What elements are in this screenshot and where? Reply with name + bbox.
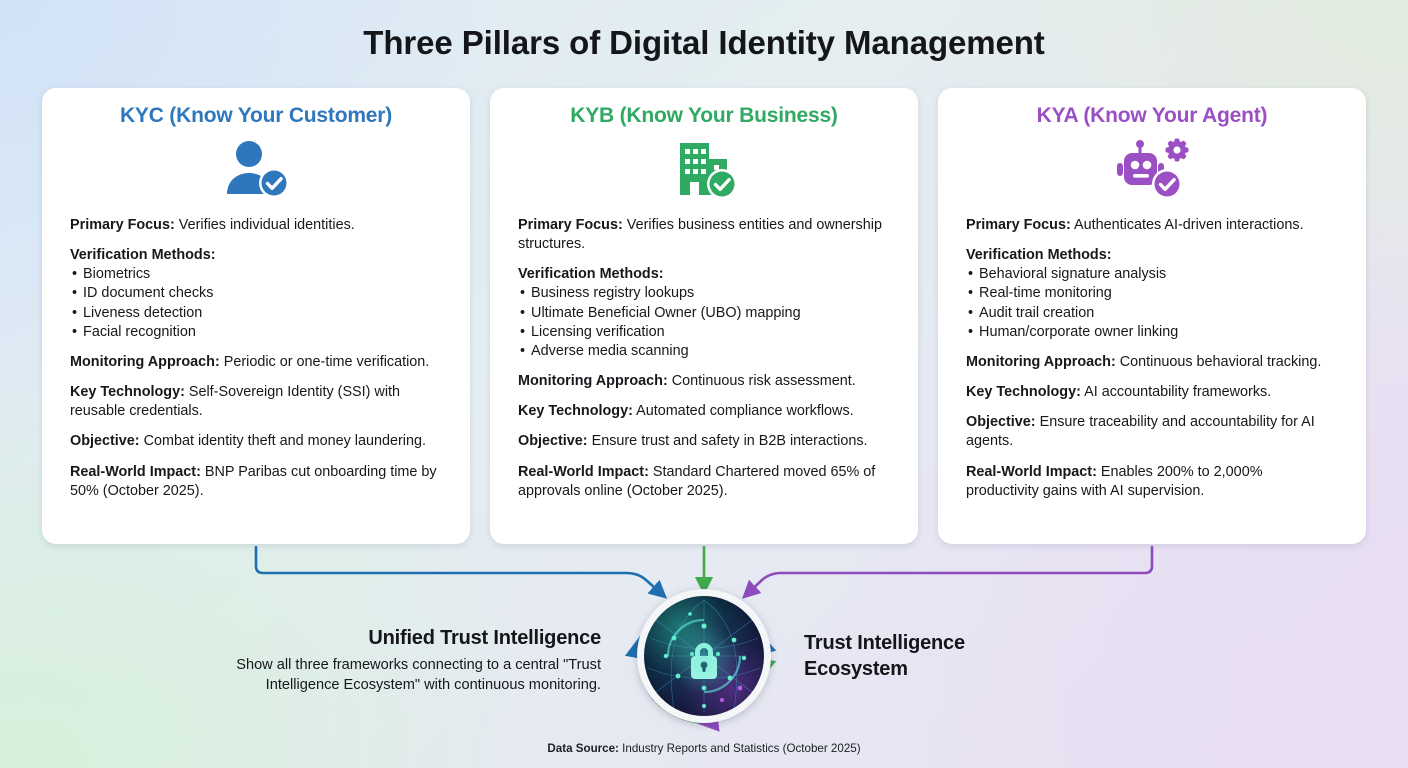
card-kya-title: KYA (Know Your Agent) [966, 104, 1338, 128]
card-kyc-impact: Real-World Impact: BNP Paribas cut onboa… [70, 463, 442, 501]
robot-gear-check-icon [966, 132, 1338, 206]
unified-trust-description: Show all three frameworks connecting to … [196, 655, 601, 695]
value-monitoring-approach: Continuous risk assessment. [672, 373, 856, 389]
value-monitoring-approach: Periodic or one-time verification. [224, 354, 430, 370]
card-kyc-objective: Objective: Combat identity theft and mon… [70, 432, 442, 451]
label-primary-focus: Primary Focus: [70, 217, 175, 233]
label-primary-focus: Primary Focus: [518, 217, 623, 233]
value-primary-focus: Verifies individual identities. [179, 217, 355, 233]
unified-trust-heading: Unified Trust Intelligence [196, 627, 601, 650]
label-real-world-impact: Real-World Impact: [966, 464, 1097, 480]
list-item: Biometrics [70, 265, 442, 284]
list-item: Adverse media scanning [518, 342, 890, 361]
card-kyc: KYC (Know Your Customer) Primary Focus: … [42, 88, 470, 544]
card-kya-technology: Key Technology: AI accountability framew… [966, 383, 1338, 402]
card-kya-impact: Real-World Impact: Enables 200% to 2,000… [966, 463, 1338, 501]
value-objective: Ensure trust and safety in B2B interacti… [592, 433, 868, 449]
data-source-footer: Data Source: Industry Reports and Statis… [0, 742, 1408, 755]
card-kyc-methods: Verification Methods: Biometrics ID docu… [70, 246, 442, 342]
card-kyc-title: KYC (Know Your Customer) [70, 104, 442, 128]
label-objective: Objective: [966, 414, 1036, 430]
label-monitoring-approach: Monitoring Approach: [518, 373, 668, 389]
label-verification-methods: Verification Methods: [518, 266, 664, 282]
label-verification-methods: Verification Methods: [70, 247, 216, 263]
data-source-text: Industry Reports and Statistics (October… [622, 742, 860, 755]
card-kyb-technology: Key Technology: Automated compliance wor… [518, 402, 890, 421]
list-item: Human/corporate owner linking [966, 323, 1338, 342]
person-check-icon [70, 132, 442, 206]
label-real-world-impact: Real-World Impact: [70, 464, 201, 480]
label-real-world-impact: Real-World Impact: [518, 464, 649, 480]
card-kya-primary-focus: Primary Focus: Authenticates AI-driven i… [966, 216, 1338, 235]
label-verification-methods: Verification Methods: [966, 247, 1112, 263]
unified-trust-intelligence-block: Unified Trust Intelligence Show all thre… [196, 627, 601, 695]
card-kyb-objective: Objective: Ensure trust and safety in B2… [518, 432, 890, 451]
value-primary-focus: Authenticates AI-driven interactions. [1074, 217, 1304, 233]
card-kyc-body: Primary Focus: Verifies individual ident… [70, 216, 442, 501]
value-objective: Combat identity theft and money launderi… [144, 433, 426, 449]
building-check-icon [518, 132, 890, 206]
label-monitoring-approach: Monitoring Approach: [70, 354, 220, 370]
card-kyb-title: KYB (Know Your Business) [518, 104, 890, 128]
list-item: Real-time monitoring [966, 284, 1338, 303]
card-kyb-monitoring: Monitoring Approach: Continuous risk ass… [518, 372, 890, 391]
list-item: Licensing verification [518, 323, 890, 342]
value-monitoring-approach: Continuous behavioral tracking. [1120, 354, 1322, 370]
verification-methods-list: Business registry lookups Ultimate Benef… [518, 284, 890, 361]
card-kyc-monitoring: Monitoring Approach: Periodic or one-tim… [70, 353, 442, 372]
label-key-technology: Key Technology: [966, 384, 1081, 400]
card-kyb: KYB (Know Your Business) Primary Focus [490, 88, 918, 544]
trust-intelligence-ecosystem-heading: Trust Intelligence Ecosystem [804, 630, 1064, 683]
list-item: ID document checks [70, 284, 442, 303]
card-kya-methods: Verification Methods: Behavioral signatu… [966, 246, 1338, 342]
verification-methods-list: Behavioral signature analysis Real-time … [966, 265, 1338, 342]
list-item: Ultimate Beneficial Owner (UBO) mapping [518, 304, 890, 323]
card-kya-body: Primary Focus: Authenticates AI-driven i… [966, 216, 1338, 501]
list-item: Behavioral signature analysis [966, 265, 1338, 284]
card-kya: KYA (Know Your Agent) [938, 88, 1366, 544]
value-key-technology: Automated compliance workflows. [636, 403, 854, 419]
label-key-technology: Key Technology: [518, 403, 633, 419]
label-monitoring-approach: Monitoring Approach: [966, 354, 1116, 370]
card-kyb-methods: Verification Methods: Business registry … [518, 265, 890, 361]
card-kya-monitoring: Monitoring Approach: Continuous behavior… [966, 353, 1338, 372]
list-item: Facial recognition [70, 323, 442, 342]
lock-network-globe-icon [637, 589, 771, 723]
card-kyc-primary-focus: Primary Focus: Verifies individual ident… [70, 216, 442, 235]
card-kya-objective: Objective: Ensure traceability and accou… [966, 413, 1338, 451]
lock-glow [669, 624, 739, 694]
list-item: Business registry lookups [518, 284, 890, 303]
data-source-label: Data Source: [547, 742, 619, 755]
page-title: Three Pillars of Digital Identity Manage… [0, 24, 1408, 62]
card-kyb-primary-focus: Primary Focus: Verifies business entitie… [518, 216, 890, 254]
label-objective: Objective: [518, 433, 588, 449]
label-primary-focus: Primary Focus: [966, 217, 1071, 233]
list-item: Liveness detection [70, 304, 442, 323]
infographic-canvas: Three Pillars of Digital Identity Manage… [0, 0, 1408, 768]
list-item: Audit trail creation [966, 304, 1338, 323]
card-kyb-body: Primary Focus: Verifies business entitie… [518, 216, 890, 501]
verification-methods-list: Biometrics ID document checks Liveness d… [70, 265, 442, 342]
card-kyc-technology: Key Technology: Self-Sovereign Identity … [70, 383, 442, 421]
label-objective: Objective: [70, 433, 140, 449]
value-key-technology: AI accountability frameworks. [1084, 384, 1271, 400]
label-key-technology: Key Technology: [70, 384, 185, 400]
card-kyb-impact: Real-World Impact: Standard Chartered mo… [518, 463, 890, 501]
